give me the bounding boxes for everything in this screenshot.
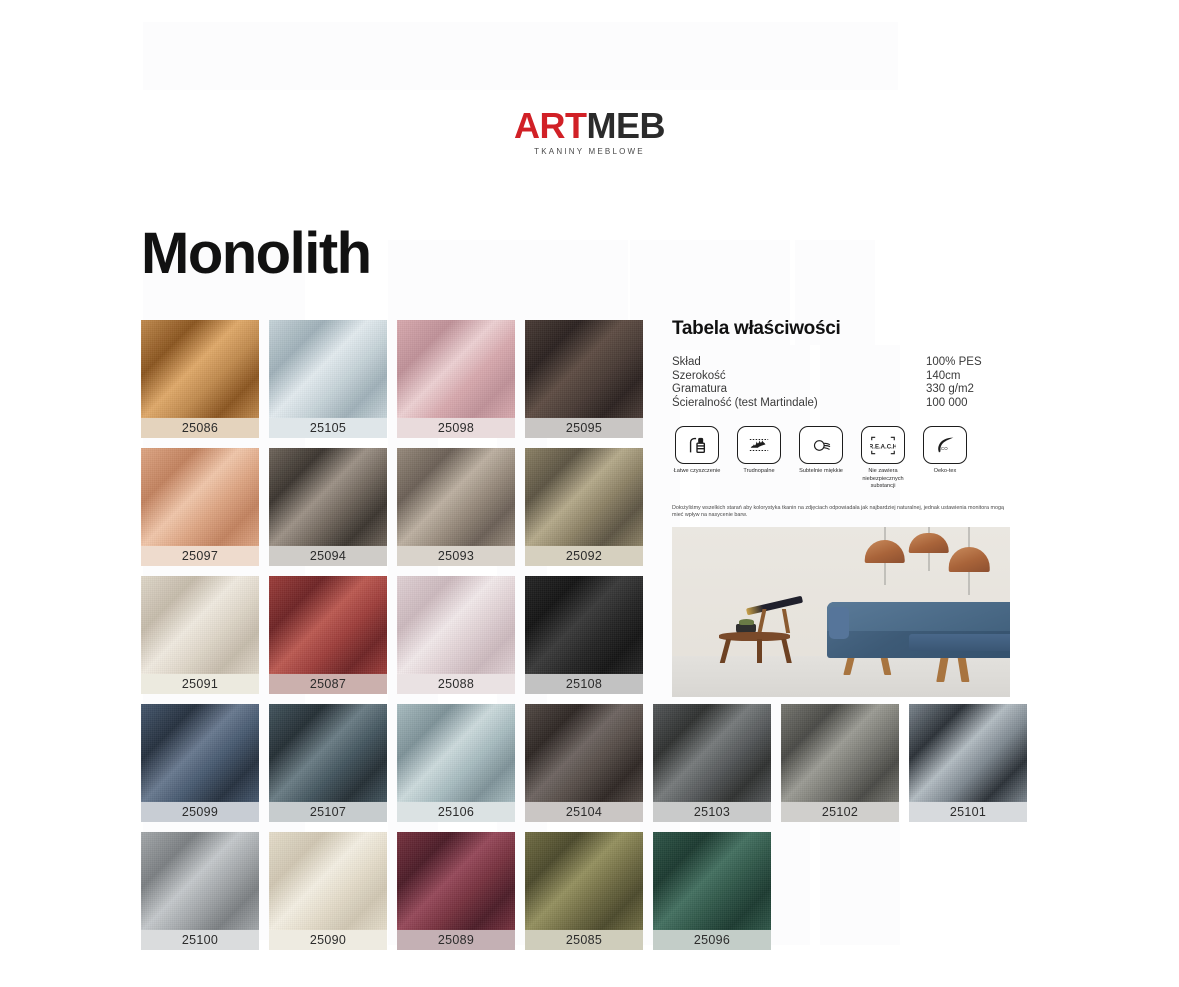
feature-icon-row: Łatwe czyszczenieTrudnopalneSubtelnie mi…: [672, 426, 1012, 491]
fabric-swatch-code: 25106: [397, 802, 515, 822]
fabric-swatch[interactable]: 25102: [781, 704, 899, 822]
fabric-swatch-code: 25086: [141, 418, 259, 438]
pendant-lamp-icon: [865, 527, 906, 585]
fabric-swatch-code: 25088: [397, 674, 515, 694]
fabric-swatch[interactable]: 25108: [525, 576, 643, 694]
swatch-row: 25099251072510625104251032510225101: [141, 704, 1041, 822]
fabric-swatch-image: [525, 704, 643, 802]
feature-caption: Oeko-tex: [920, 468, 970, 476]
bg-panel: [143, 22, 898, 90]
fabric-swatch[interactable]: 25101: [909, 704, 1027, 822]
feature-flame: Trudnopalne: [734, 426, 784, 491]
fabric-swatch[interactable]: 25085: [525, 832, 643, 950]
sofa-backrest: [827, 602, 1010, 631]
fabric-swatch[interactable]: 25089: [397, 832, 515, 950]
fabric-swatch-code: 25105: [269, 418, 387, 438]
fabric-swatch[interactable]: 25094: [269, 448, 387, 566]
spec-label: Szerokość: [672, 370, 726, 384]
fabric-swatch-code: 25090: [269, 930, 387, 950]
fabric-swatch-image: [525, 576, 643, 674]
fabric-swatch[interactable]: 25097: [141, 448, 259, 566]
fabric-swatch[interactable]: 25091: [141, 576, 259, 694]
softness-icon: [799, 426, 843, 464]
fabric-swatch-code: 25096: [653, 930, 771, 950]
fabric-swatch-image: [909, 704, 1027, 802]
logo-wordmark: ARTMEB: [0, 108, 1179, 144]
specs-panel: Tabela właściwości Skład100% PESSzerokoś…: [672, 318, 1012, 541]
reach-icon: R.E.A.C.H: [861, 426, 905, 464]
fabric-swatch-code: 25107: [269, 802, 387, 822]
fabric-swatch-code: 25092: [525, 546, 643, 566]
fabric-swatch-code: 25104: [525, 802, 643, 822]
fabric-swatch-code: 25094: [269, 546, 387, 566]
fabric-swatch-image: [269, 704, 387, 802]
feature-caption: Subtelnie miękkie: [796, 468, 846, 476]
spec-row: Skład100% PES: [672, 356, 1012, 370]
specs-table: Skład100% PESSzerokość140cmGramatura330 …: [672, 356, 1012, 410]
flame-icon: [737, 426, 781, 464]
fabric-swatch-image: [525, 832, 643, 930]
spec-label: Skład: [672, 356, 701, 370]
fabric-swatch-code: 25100: [141, 930, 259, 950]
fabric-swatch-code: 25091: [141, 674, 259, 694]
fabric-swatch-image: [653, 832, 771, 930]
logo-meb-text: MEB: [587, 105, 666, 146]
spec-row: Szerokość140cm: [672, 370, 1012, 384]
fabric-swatch-image: [141, 832, 259, 930]
fabric-swatch-image: [781, 704, 899, 802]
fabric-swatch[interactable]: 25098: [397, 320, 515, 438]
page-title: Monolith: [141, 225, 371, 283]
spec-value: 100% PES: [926, 356, 1012, 370]
fabric-swatch-image: [269, 448, 387, 546]
catalog-page: ARTMEB TKANINY MEBLOWE Monolith 25086251…: [0, 0, 1179, 987]
spec-value: 100 000: [926, 397, 1012, 411]
feature-reach: R.E.A.C.HNie zawiera niebezpiecznych sub…: [858, 426, 908, 491]
fabric-swatch-code: 25093: [397, 546, 515, 566]
logo-art-text: ART: [514, 105, 587, 146]
sofa-seat: [909, 634, 1010, 651]
fabric-swatch-image: [525, 448, 643, 546]
fabric-swatch-image: [269, 832, 387, 930]
fabric-swatch[interactable]: 25104: [525, 704, 643, 822]
svg-text:R.E.A.C.H: R.E.A.C.H: [870, 444, 896, 450]
fabric-swatch-code: 25098: [397, 418, 515, 438]
vacuum-icon: [675, 426, 719, 464]
pendant-lamp-icon: [949, 527, 990, 595]
feature-caption: Łatwe czyszczenie: [672, 468, 722, 476]
spec-value: 330 g/m2: [926, 383, 1012, 397]
fabric-swatch-image: [525, 320, 643, 418]
spec-row: Ścieralność (test Martindale)100 000: [672, 397, 1012, 411]
svg-text:ECO: ECO: [938, 445, 948, 450]
pendant-lamp-icon: [909, 527, 950, 571]
feature-caption: Nie zawiera niebezpiecznych substancji: [858, 468, 908, 491]
fabric-swatch[interactable]: 25092: [525, 448, 643, 566]
fabric-swatch-image: [397, 832, 515, 930]
fabric-swatch-image: [653, 704, 771, 802]
logo-tagline: TKANINY MEBLOWE: [0, 147, 1179, 156]
feature-eco-leaf: ECOOeko-tex: [920, 426, 970, 491]
fabric-swatch[interactable]: 25099: [141, 704, 259, 822]
fabric-swatch[interactable]: 25087: [269, 576, 387, 694]
fabric-swatch-code: 25097: [141, 546, 259, 566]
fabric-swatch-image: [141, 448, 259, 546]
fabric-swatch-image: [141, 704, 259, 802]
fabric-swatch-code: 25095: [525, 418, 643, 438]
eco-leaf-icon: ECO: [923, 426, 967, 464]
fabric-swatch-image: [269, 576, 387, 674]
spec-label: Gramatura: [672, 383, 727, 397]
spec-value: 140cm: [926, 370, 1012, 384]
fabric-swatch-code: 25085: [525, 930, 643, 950]
spec-row: Gramatura330 g/m2: [672, 383, 1012, 397]
fabric-swatch-image: [141, 320, 259, 418]
interior-photo: [672, 527, 1010, 697]
table-leg: [757, 639, 762, 663]
fabric-swatch-code: 25108: [525, 674, 643, 694]
fabric-swatch[interactable]: 25086: [141, 320, 259, 438]
brand-logo: ARTMEB TKANINY MEBLOWE: [0, 108, 1179, 156]
fabric-swatch[interactable]: 25106: [397, 704, 515, 822]
fabric-swatch-image: [141, 576, 259, 674]
fabric-swatch-image: [269, 320, 387, 418]
sofa-armrest: [829, 607, 849, 639]
feature-vacuum: Łatwe czyszczenie: [672, 426, 722, 491]
feature-softness: Subtelnie miękkie: [796, 426, 846, 491]
fabric-swatch-image: [397, 448, 515, 546]
spec-label: Ścieralność (test Martindale): [672, 397, 818, 411]
fabric-swatch-code: 25101: [909, 802, 1027, 822]
fabric-swatch-image: [397, 320, 515, 418]
fabric-swatch-code: 25089: [397, 930, 515, 950]
fabric-swatch[interactable]: 25096: [653, 832, 771, 950]
fabric-swatch-image: [397, 576, 515, 674]
fabric-swatch[interactable]: 25107: [269, 704, 387, 822]
fabric-swatch[interactable]: 25093: [397, 448, 515, 566]
swatch-row: 2510025090250892508525096: [141, 832, 1041, 950]
fabric-swatch[interactable]: 25105: [269, 320, 387, 438]
fabric-swatch[interactable]: 25095: [525, 320, 643, 438]
fabric-swatch[interactable]: 25088: [397, 576, 515, 694]
specs-heading: Tabela właściwości: [672, 318, 1012, 340]
fabric-swatch-code: 25102: [781, 802, 899, 822]
fabric-swatch[interactable]: 25103: [653, 704, 771, 822]
fabric-swatch-code: 25103: [653, 802, 771, 822]
fabric-swatch-image: [397, 704, 515, 802]
fabric-swatch[interactable]: 25100: [141, 832, 259, 950]
fabric-swatch-code: 25099: [141, 802, 259, 822]
fabric-swatch[interactable]: 25090: [269, 832, 387, 950]
feature-caption: Trudnopalne: [734, 468, 784, 476]
disclaimer-paragraph-1: Dołożyliśmy wszelkich starań aby kolorys…: [672, 505, 1008, 520]
fabric-swatch-code: 25087: [269, 674, 387, 694]
